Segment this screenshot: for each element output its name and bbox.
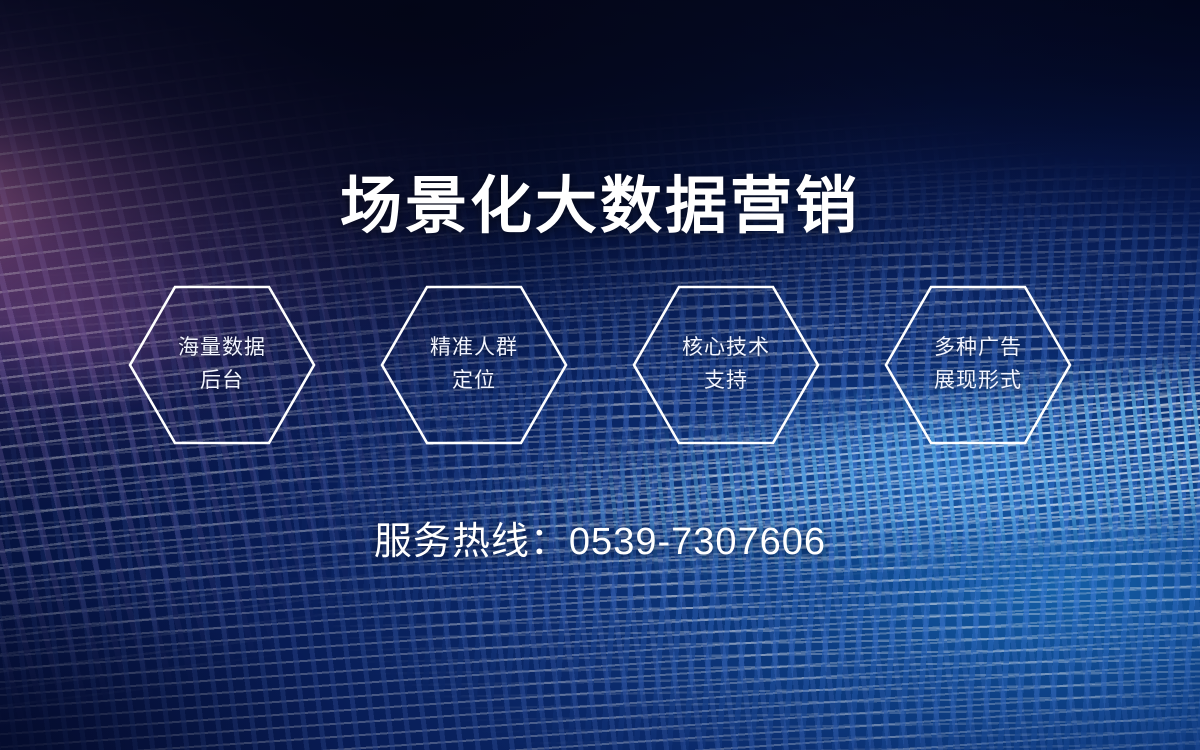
page-title: 场景化大数据营销 — [0, 174, 1200, 239]
feature-hexagon-core-technology-support[interactable]: 核心技术 支持 — [632, 285, 820, 445]
feature-hexagon-precise-audience-targeting[interactable]: 精准人群 定位 — [380, 285, 568, 445]
feature-label-line2: 后台 — [178, 365, 266, 398]
marketing-banner: 场景化大数据营销 海量数据 后台 精准人群 定位 — [0, 0, 1200, 750]
feature-label-line1: 精准人群 — [430, 336, 518, 359]
feature-hexagon-massive-data-backend[interactable]: 海量数据 后台 — [128, 285, 316, 445]
feature-hexagon-row: 海量数据 后台 精准人群 定位 核心技术 支持 — [0, 285, 1200, 445]
feature-label-line2: 展现形式 — [934, 365, 1022, 398]
feature-label: 海量数据 后台 — [178, 332, 266, 397]
service-hotline[interactable]: 服务热线：0539-7307606 — [0, 510, 1200, 565]
feature-label-line2: 定位 — [430, 365, 518, 398]
feature-label: 核心技术 支持 — [682, 332, 770, 397]
feature-label-line2: 支持 — [682, 365, 770, 398]
feature-label: 精准人群 定位 — [430, 332, 518, 397]
feature-label-line1: 多种广告 — [934, 336, 1022, 359]
feature-label-line1: 核心技术 — [682, 336, 770, 359]
feature-label-line1: 海量数据 — [178, 336, 266, 359]
feature-hexagon-multiple-ad-formats[interactable]: 多种广告 展现形式 — [884, 285, 1072, 445]
feature-label: 多种广告 展现形式 — [934, 332, 1022, 397]
